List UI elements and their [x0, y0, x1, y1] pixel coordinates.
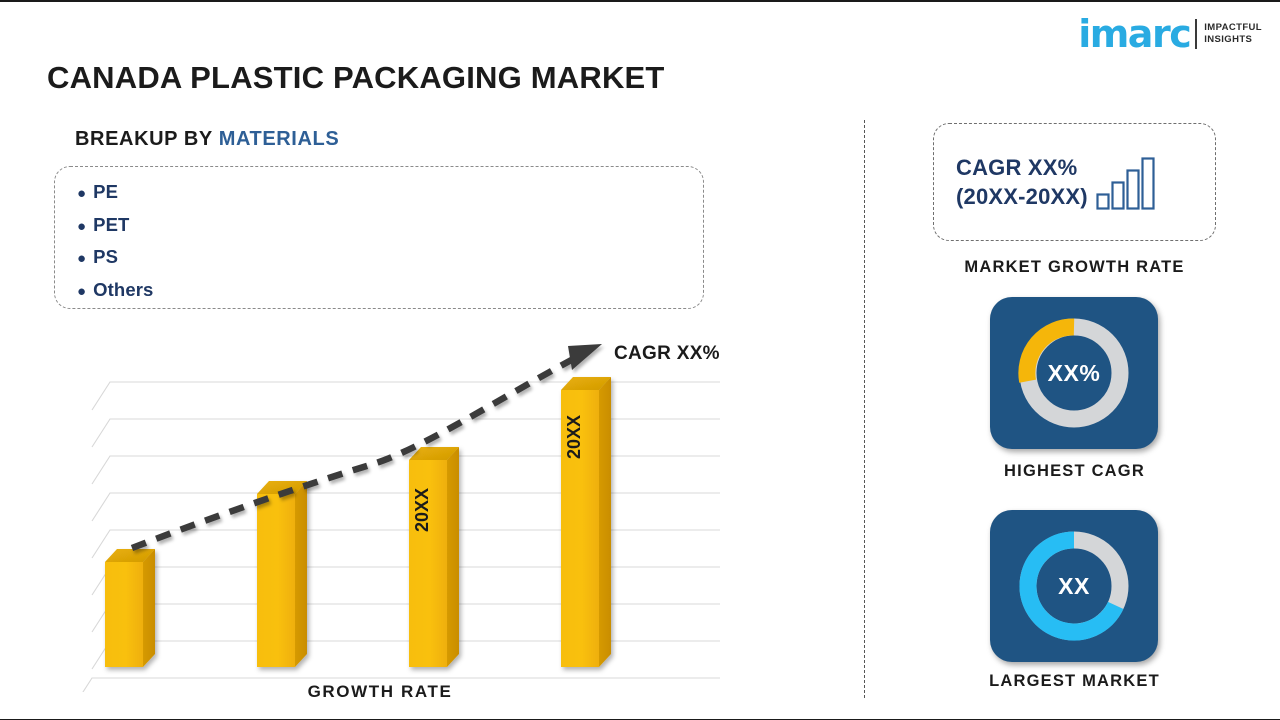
highest-cagr-card: XX%: [990, 297, 1158, 449]
list-item: ●PET: [77, 210, 703, 243]
logo-tagline-line2: INSIGHTS: [1204, 34, 1262, 46]
list-item: ●PE: [77, 177, 703, 210]
chart-gridlines: [74, 382, 720, 692]
breakup-heading: BREAKUP BY MATERIALS: [75, 128, 339, 151]
cagr-callout-label: CAGR XX%: [614, 343, 720, 365]
highest-cagr-label: HIGHEST CAGR: [933, 462, 1216, 481]
breakup-heading-prefix: BREAKUP BY: [75, 128, 213, 150]
bullet-icon: ●: [77, 283, 86, 300]
growth-rate-cagr: CAGR XX%: [956, 153, 1088, 182]
trend-arrowhead: [568, 344, 602, 370]
chart-bar: [105, 549, 155, 667]
bullet-icon: ●: [77, 250, 86, 267]
material-label: PET: [93, 214, 129, 235]
market-growth-rate-box: CAGR XX% (20XX-20XX): [933, 123, 1216, 241]
largest-market-label: LARGEST MARKET: [933, 672, 1216, 691]
imarc-logo: imarc IMPACTFUL INSIGHTS: [1078, 14, 1262, 54]
list-item: ●Others: [77, 275, 703, 308]
material-label: Others: [93, 279, 153, 300]
bullet-icon: ●: [77, 185, 86, 202]
chart-bar: [257, 481, 307, 667]
panel-divider: [864, 120, 865, 698]
growth-bar-chart: 20XX 20XX: [60, 332, 760, 692]
page-title: CANADA PLASTIC PACKAGING MARKET: [47, 60, 665, 96]
highest-cagr-donut: XX%: [1014, 313, 1134, 433]
chart-bar: [409, 447, 459, 667]
chart-x-axis-label: GROWTH RATE: [0, 682, 760, 702]
list-item: ●PS: [77, 242, 703, 275]
infographic-page: imarc IMPACTFUL INSIGHTS CANADA PLASTIC …: [0, 0, 1280, 720]
largest-market-donut: XX: [1014, 526, 1134, 646]
chart-bar-label: 20XX: [564, 415, 584, 459]
bar-chart-icon: [1096, 154, 1158, 210]
materials-list-box: ●PE ●PET ●PS ●Others: [54, 166, 704, 309]
bullet-icon: ●: [77, 218, 86, 235]
chart-trend-line: [132, 344, 602, 548]
growth-rate-period: (20XX-20XX): [956, 182, 1088, 211]
market-growth-rate-label: MARKET GROWTH RATE: [933, 258, 1216, 277]
largest-market-card: XX: [990, 510, 1158, 662]
logo-divider: [1195, 19, 1197, 49]
growth-rate-text: CAGR XX% (20XX-20XX): [956, 153, 1088, 211]
largest-market-value: XX: [1014, 526, 1134, 646]
material-label: PE: [93, 181, 118, 202]
logo-tagline: IMPACTFUL INSIGHTS: [1204, 22, 1262, 46]
material-label: PS: [93, 246, 118, 267]
breakup-heading-accent: MATERIALS: [219, 128, 340, 150]
logo-tagline-line1: IMPACTFUL: [1204, 22, 1262, 34]
chart-bar-label: 20XX: [412, 488, 432, 532]
chart-svg: 20XX 20XX: [60, 332, 760, 692]
highest-cagr-value: XX%: [1014, 313, 1134, 433]
logo-wordmark: imarc: [1078, 15, 1190, 53]
